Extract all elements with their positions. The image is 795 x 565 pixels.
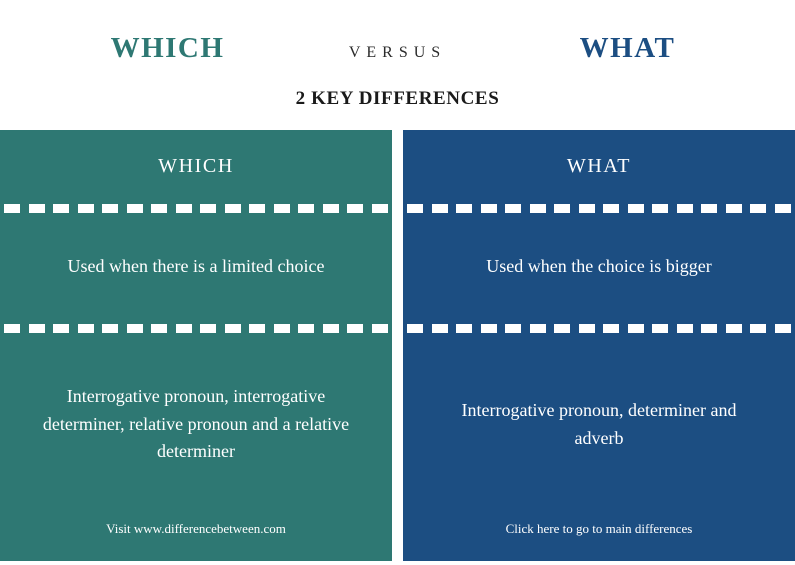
title-versus-label: VERSUS — [313, 44, 483, 62]
title-right-term: WHAT — [483, 32, 773, 65]
column-which-heading: WHICH — [0, 130, 392, 202]
column-which-row-2: Interrogative pronoun, interrogative det… — [0, 332, 392, 517]
header: WHICH VERSUS WHAT 2 KEY DIFFERENCES — [0, 0, 795, 130]
comparison-body: WHICH Used when there is a limited choic… — [0, 130, 795, 565]
column-which-footer[interactable]: Visit www.differencebetween.com — [0, 521, 392, 537]
column-which-row-1: Used when there is a limited choice — [0, 212, 392, 322]
title-left-term: WHICH — [23, 32, 313, 65]
column-what-heading: WHAT — [403, 130, 795, 202]
comparison-infographic: WHICH VERSUS WHAT 2 KEY DIFFERENCES WHIC… — [0, 0, 795, 565]
page-subtitle: 2 KEY DIFFERENCES — [0, 88, 795, 110]
title-row: WHICH VERSUS WHAT — [0, 32, 795, 65]
column-what-footer[interactable]: Click here to go to main differences — [403, 521, 795, 537]
column-what-row-2: Interrogative pronoun, determiner and ad… — [403, 332, 795, 517]
column-what-row-1: Used when the choice is bigger — [403, 212, 795, 322]
column-which: WHICH Used when there is a limited choic… — [0, 130, 392, 565]
column-what: WHAT Used when the choice is bigger Inte… — [403, 130, 795, 565]
column-divider — [392, 130, 403, 565]
bottom-rule — [0, 561, 795, 565]
